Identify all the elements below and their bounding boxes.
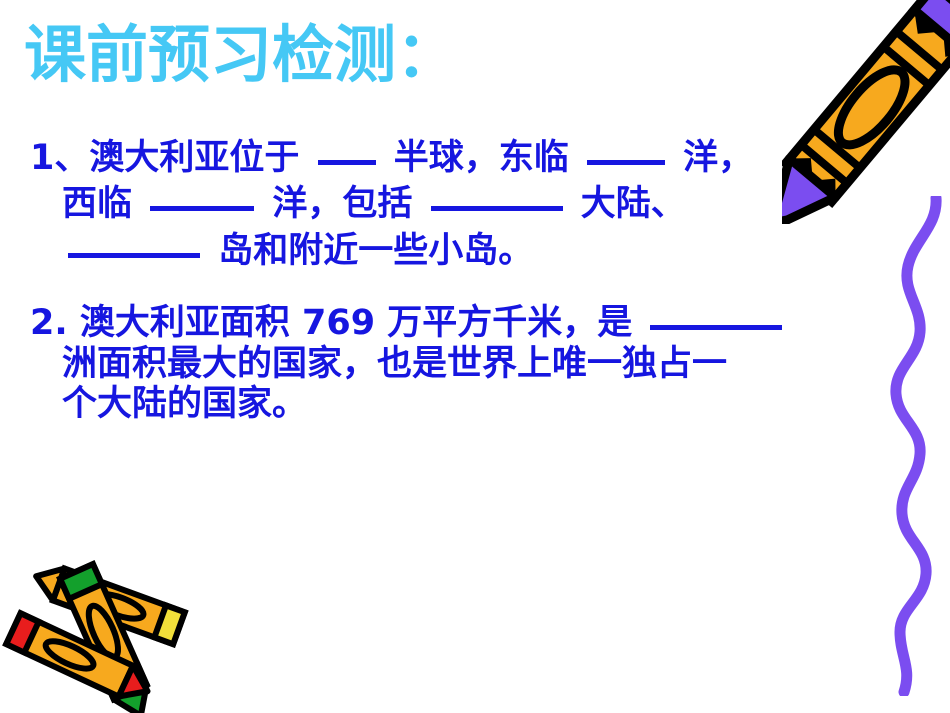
text-run: 西临 [62, 184, 132, 224]
question-1-line-1: 1、澳大利亚位于 半球，东临 洋， [0, 132, 880, 178]
text-run: 洋， [683, 138, 753, 178]
text-run: 大陆、 [581, 184, 686, 224]
text-run: 洲面积最大的国家，也是世界上唯一独占一 [62, 344, 727, 384]
fill-blank-oceania[interactable] [650, 299, 782, 330]
text-run: 半球，东临 [394, 138, 569, 178]
fill-blank-hemisphere[interactable] [318, 134, 376, 165]
page-title: 课前预习检测： [24, 22, 458, 87]
fill-blank-east-ocean[interactable] [587, 134, 665, 165]
text-run: 岛和附近一些小岛。 [218, 231, 533, 271]
question-1-line-2: 西临 洋，包括 大陆、 [0, 178, 880, 224]
purple-squiggle-icon [878, 196, 950, 696]
text-run: 1、澳大利亚位于 [30, 138, 299, 178]
text-run: 个大陆的国家。 [62, 384, 307, 424]
slide-canvas: 课前预习检测： 1、澳大利亚位于 半球，东临 洋， 西临 洋，包括 大陆、 岛和… [0, 0, 950, 713]
question-2-line-2: 洲面积最大的国家，也是世界上唯一独占一 [0, 344, 880, 384]
fill-blank-west-ocean[interactable] [150, 180, 254, 211]
question-2-line-3: 个大陆的国家。 [0, 384, 880, 424]
fill-blank-continent[interactable] [431, 180, 563, 211]
question-item-1: 1、澳大利亚位于 半球，东临 洋， 西临 洋，包括 大陆、 岛和附近一些小岛。 [0, 132, 880, 271]
text-run: 2. 澳大利亚面积 769 万平方千米，是 [30, 303, 632, 343]
question-1-line-3: 岛和附近一些小岛。 [0, 225, 880, 271]
crayon-top-right-icon [782, 0, 950, 224]
question-list: 1、澳大利亚位于 半球，东临 洋， 西临 洋，包括 大陆、 岛和附近一些小岛。 [0, 132, 880, 424]
question-2-line-1: 2. 澳大利亚面积 769 万平方千米，是 [0, 297, 880, 343]
crayons-bottom-left-icon [0, 558, 236, 713]
fill-blank-island[interactable] [68, 227, 200, 258]
text-run: 洋，包括 [272, 184, 412, 224]
question-item-2: 2. 澳大利亚面积 769 万平方千米，是 洲面积最大的国家，也是世界上唯一独占… [0, 297, 880, 424]
